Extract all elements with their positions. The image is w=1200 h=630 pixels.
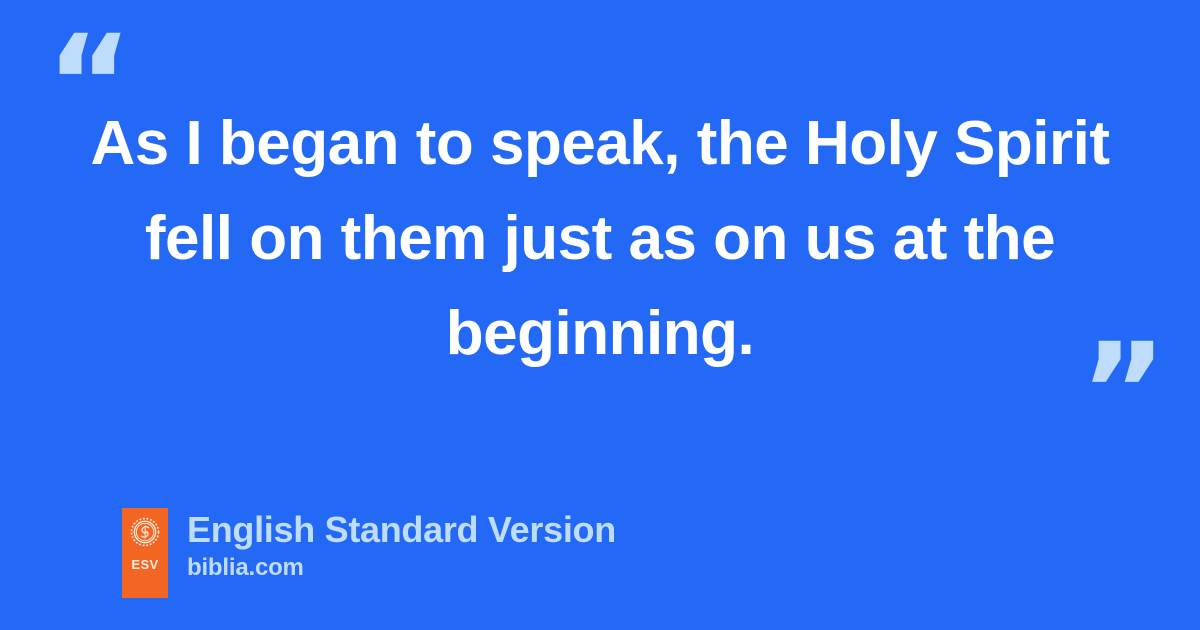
attribution-text: English Standard Version biblia.com (187, 508, 616, 582)
bible-verse-card: “ As I began to speak, the Holy Spirit f… (0, 0, 1200, 630)
esv-seal-icon (130, 517, 160, 547)
esv-logo: ESV (122, 508, 168, 598)
site-url[interactable]: biblia.com (187, 554, 616, 582)
bible-version-name: English Standard Version (187, 509, 616, 551)
esv-logo-label: ESV (131, 558, 158, 571)
close-quote-icon: ” (1080, 326, 1165, 458)
quote-text: As I began to speak, the Holy Spirit fel… (60, 96, 1140, 381)
attribution: ESV English Standard Version biblia.com (122, 508, 616, 598)
